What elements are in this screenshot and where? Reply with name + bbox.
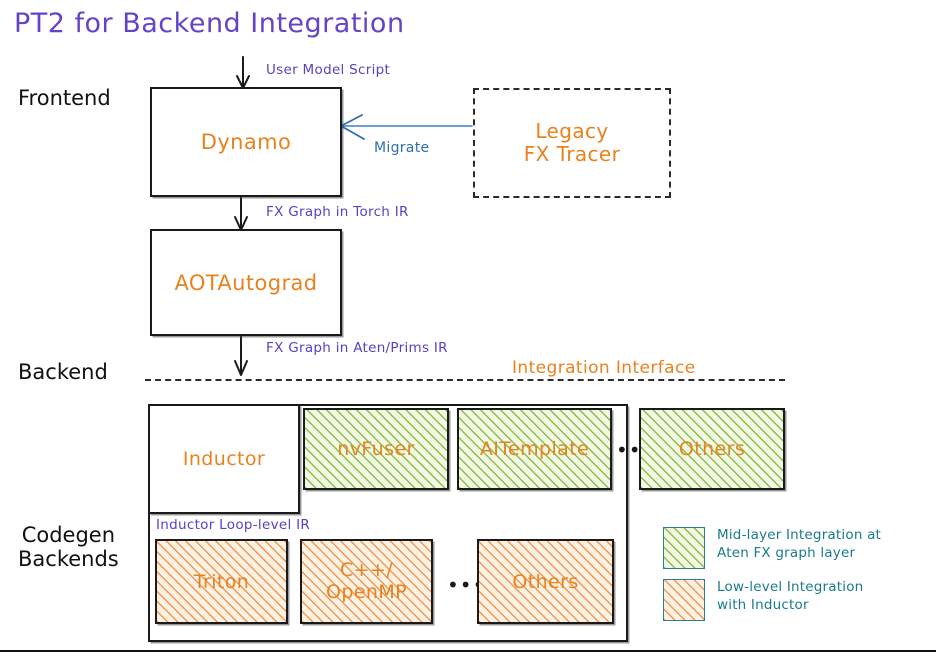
mid-layer-box-nvfuser-label: nvFuser bbox=[337, 438, 414, 460]
annotation-fx-graph-aten-prims-ir: FX Graph in Aten/Prims IR bbox=[266, 340, 448, 356]
annotation-integration-interface: Integration Interface bbox=[512, 358, 696, 378]
mid-layer-box-nvfuser[interactable]: nvFuser bbox=[303, 408, 449, 490]
legend-swatch-green bbox=[663, 527, 705, 569]
node-legacy-fx-tracer-label: Legacy FX Tracer bbox=[524, 120, 620, 166]
codegen-box-others[interactable]: Others bbox=[477, 539, 614, 624]
section-label-frontend: Frontend bbox=[18, 86, 111, 111]
mid-layer-box-others[interactable]: Others bbox=[639, 408, 785, 490]
legend-label-mid-layer: Mid-layer Integration at Aten FX graph l… bbox=[717, 527, 881, 563]
legend: Mid-layer Integration at Aten FX graph l… bbox=[663, 527, 933, 621]
codegen-box-others-label: Others bbox=[512, 571, 578, 593]
legend-label-low-level: Low-level Integration with Inductor bbox=[717, 579, 863, 615]
legend-swatch-orange bbox=[663, 579, 705, 621]
annotation-fx-graph-torch-ir: FX Graph in Torch IR bbox=[266, 204, 409, 220]
node-legacy-fx-tracer[interactable]: Legacy FX Tracer bbox=[473, 88, 671, 198]
node-inductor[interactable]: Inductor bbox=[148, 404, 300, 514]
arrow-fx-graph-aten-prims-ir bbox=[235, 336, 247, 375]
legend-item-mid-layer: Mid-layer Integration at Aten FX graph l… bbox=[663, 527, 933, 569]
bottom-divider bbox=[0, 650, 936, 652]
legend-item-low-level: Low-level Integration with Inductor bbox=[663, 579, 933, 621]
node-dynamo[interactable]: Dynamo bbox=[150, 87, 342, 197]
section-label-codegen: Codegen Backends bbox=[18, 523, 119, 571]
annotation-user-model-script: User Model Script bbox=[266, 62, 390, 78]
mid-layer-box-aitemplate[interactable]: AITemplate bbox=[457, 408, 612, 490]
arrow-migrate bbox=[341, 115, 472, 139]
diagram-canvas: PT2 for Backend Integration Frontend Bac… bbox=[0, 0, 936, 656]
node-inductor-label: Inductor bbox=[183, 448, 265, 470]
integration-interface-divider bbox=[145, 379, 785, 381]
mid-layer-box-aitemplate-label: AITemplate bbox=[480, 438, 589, 460]
mid-layer-box-others-label: Others bbox=[679, 438, 745, 460]
arrow-user-model-script bbox=[237, 57, 249, 88]
page-title: PT2 for Backend Integration bbox=[14, 8, 405, 39]
codegen-box-cpp-openmp[interactable]: C++/ OpenMP bbox=[300, 539, 433, 624]
arrow-fx-graph-torch-ir bbox=[235, 197, 247, 230]
node-aot-autograd-label: AOTAutograd bbox=[174, 271, 317, 295]
node-dynamo-label: Dynamo bbox=[201, 130, 291, 154]
codegen-box-cpp-openmp-label: C++/ OpenMP bbox=[326, 560, 407, 604]
codegen-box-triton-label: Triton bbox=[194, 571, 249, 593]
codegen-box-triton[interactable]: Triton bbox=[155, 539, 288, 624]
section-label-backend: Backend bbox=[18, 360, 108, 385]
node-aot-autograd[interactable]: AOTAutograd bbox=[150, 229, 342, 336]
annotation-migrate: Migrate bbox=[374, 140, 429, 156]
